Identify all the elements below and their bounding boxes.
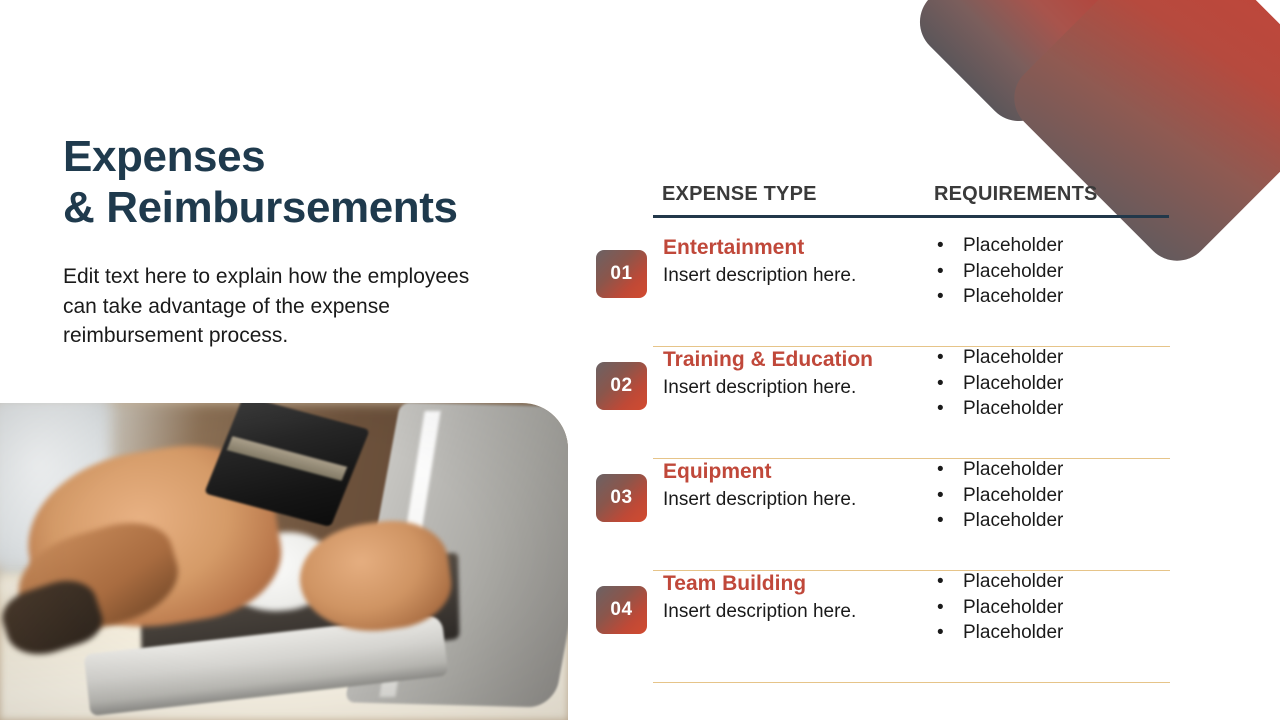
table-row[interactable]: 01EntertainmentInsert description here.•… — [594, 235, 1194, 347]
page-title-line-1: Expenses — [63, 131, 583, 182]
row-number-badge: 02 — [596, 362, 647, 410]
expense-type-description: Insert description here. — [663, 488, 933, 512]
row-number-badge: 01 — [596, 250, 647, 298]
requirement-list-item: •Placeholder — [931, 345, 1063, 371]
expense-type-cell: Team BuildingInsert description here. — [663, 571, 933, 624]
requirement-list-item: •Placeholder — [931, 233, 1063, 259]
table-row[interactable]: 04Team BuildingInsert description here.•… — [594, 571, 1194, 683]
laptop-credit-card-photo — [0, 403, 568, 720]
requirements-cell: •Placeholder•Placeholder•Placeholder — [931, 233, 1063, 310]
expense-type-cell: EquipmentInsert description here. — [663, 459, 933, 512]
bullet-icon: • — [937, 233, 944, 259]
requirement-label: Placeholder — [963, 347, 1063, 368]
requirement-list-item: •Placeholder — [931, 508, 1063, 534]
bullet-icon: • — [937, 371, 944, 397]
requirement-label: Placeholder — [963, 622, 1063, 643]
bullet-icon: • — [937, 345, 944, 371]
requirements-cell: •Placeholder•Placeholder•Placeholder — [931, 345, 1063, 422]
requirement-label: Placeholder — [963, 235, 1063, 256]
requirement-list-item: •Placeholder — [931, 457, 1063, 483]
requirement-list-item: •Placeholder — [931, 569, 1063, 595]
bullet-icon: • — [937, 508, 944, 534]
column-header-expense-type: EXPENSE TYPE — [662, 183, 817, 206]
expense-type-description: Insert description here. — [663, 600, 933, 624]
requirement-label: Placeholder — [963, 485, 1063, 506]
requirement-list-item: •Placeholder — [931, 284, 1063, 310]
requirement-label: Placeholder — [963, 286, 1063, 307]
row-number-badge: 03 — [596, 474, 647, 522]
requirement-label: Placeholder — [963, 261, 1063, 282]
bullet-icon: • — [937, 620, 944, 646]
bullet-icon: • — [937, 396, 944, 422]
expense-type-title: Training & Education — [663, 347, 933, 373]
bullet-icon: • — [937, 259, 944, 285]
page-title-line-2: & Reimbursements — [63, 182, 583, 233]
expense-type-title: Equipment — [663, 459, 933, 485]
requirements-cell: •Placeholder•Placeholder•Placeholder — [931, 569, 1063, 646]
decorative-diamond-small-icon — [906, 0, 1132, 135]
bullet-icon: • — [937, 483, 944, 509]
requirements-cell: •Placeholder•Placeholder•Placeholder — [931, 457, 1063, 534]
requirement-list-item: •Placeholder — [931, 595, 1063, 621]
page-title: Expenses & Reimbursements — [63, 131, 583, 233]
expense-type-cell: EntertainmentInsert description here. — [663, 235, 933, 288]
slide-canvas: Expenses & Reimbursements Edit text here… — [0, 0, 1280, 720]
photo-vignette — [0, 403, 568, 720]
requirement-list-item: •Placeholder — [931, 620, 1063, 646]
bullet-icon: • — [937, 284, 944, 310]
requirement-label: Placeholder — [963, 510, 1063, 531]
table-body: 01EntertainmentInsert description here.•… — [594, 235, 1194, 683]
requirement-label: Placeholder — [963, 398, 1063, 419]
bullet-icon: • — [937, 569, 944, 595]
row-divider — [653, 682, 1170, 683]
requirement-list-item: •Placeholder — [931, 371, 1063, 397]
expense-type-title: Team Building — [663, 571, 933, 597]
row-number-badge: 04 — [596, 586, 647, 634]
requirement-list-item: •Placeholder — [931, 483, 1063, 509]
expense-type-title: Entertainment — [663, 235, 933, 261]
requirement-label: Placeholder — [963, 373, 1063, 394]
expense-type-cell: Training & EducationInsert description h… — [663, 347, 933, 400]
expense-type-description: Insert description here. — [663, 376, 933, 400]
requirement-label: Placeholder — [963, 571, 1063, 592]
requirement-label: Placeholder — [963, 597, 1063, 618]
requirement-list-item: •Placeholder — [931, 396, 1063, 422]
bullet-icon: • — [937, 457, 944, 483]
requirement-list-item: •Placeholder — [931, 259, 1063, 285]
bullet-icon: • — [937, 595, 944, 621]
expense-table: EXPENSE TYPE REQUIREMENTS 01Entertainmen… — [594, 183, 1194, 683]
column-header-requirements: REQUIREMENTS — [934, 183, 1098, 206]
expense-type-description: Insert description here. — [663, 264, 933, 288]
intro-paragraph: Edit text here to explain how the employ… — [63, 262, 483, 351]
requirement-label: Placeholder — [963, 459, 1063, 480]
table-row[interactable]: 02Training & EducationInsert description… — [594, 347, 1194, 459]
table-row[interactable]: 03EquipmentInsert description here.•Plac… — [594, 459, 1194, 571]
table-header-divider — [653, 215, 1169, 218]
